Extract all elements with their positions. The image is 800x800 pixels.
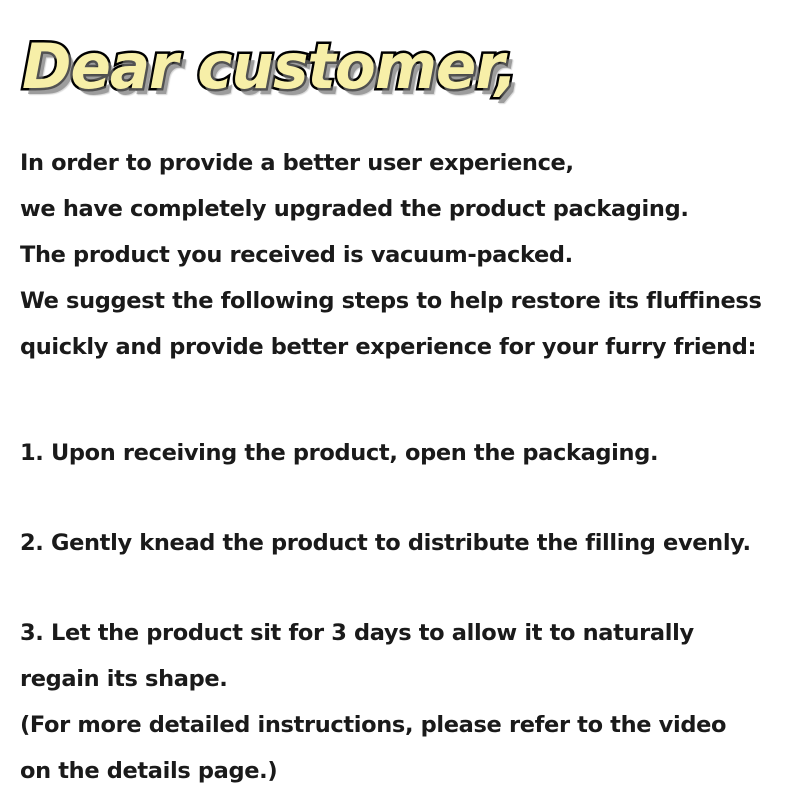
intro-line: we have completely upgraded the product … [20,186,788,232]
step-line: regain its shape. [20,656,788,702]
step-line: on the details page.) [20,748,788,794]
intro-line: In order to provide a better user experi… [20,140,788,186]
notice-card: Dear customer, In order to provide a bet… [0,0,800,800]
step-line: (For more detailed instructions, please … [20,702,788,748]
steps-list: 1. Upon receiving the product, open the … [20,430,788,794]
list-item: 3. Let the product sit for 3 days to all… [20,610,788,794]
step-line: 1. Upon receiving the product, open the … [20,430,788,476]
heading-container: Dear customer, [22,36,762,114]
intro-paragraph: In order to provide a better user experi… [20,140,788,370]
page-title: Dear customer, [22,36,517,98]
intro-line: We suggest the following steps to help r… [20,278,788,324]
step-line: 3. Let the product sit for 3 days to all… [20,610,788,656]
intro-line: quickly and provide better experience fo… [20,324,788,370]
list-item: 2. Gently knead the product to distribut… [20,520,788,566]
intro-line: The product you received is vacuum-packe… [20,232,788,278]
step-line: 2. Gently knead the product to distribut… [20,520,788,566]
list-item: 1. Upon receiving the product, open the … [20,430,788,476]
